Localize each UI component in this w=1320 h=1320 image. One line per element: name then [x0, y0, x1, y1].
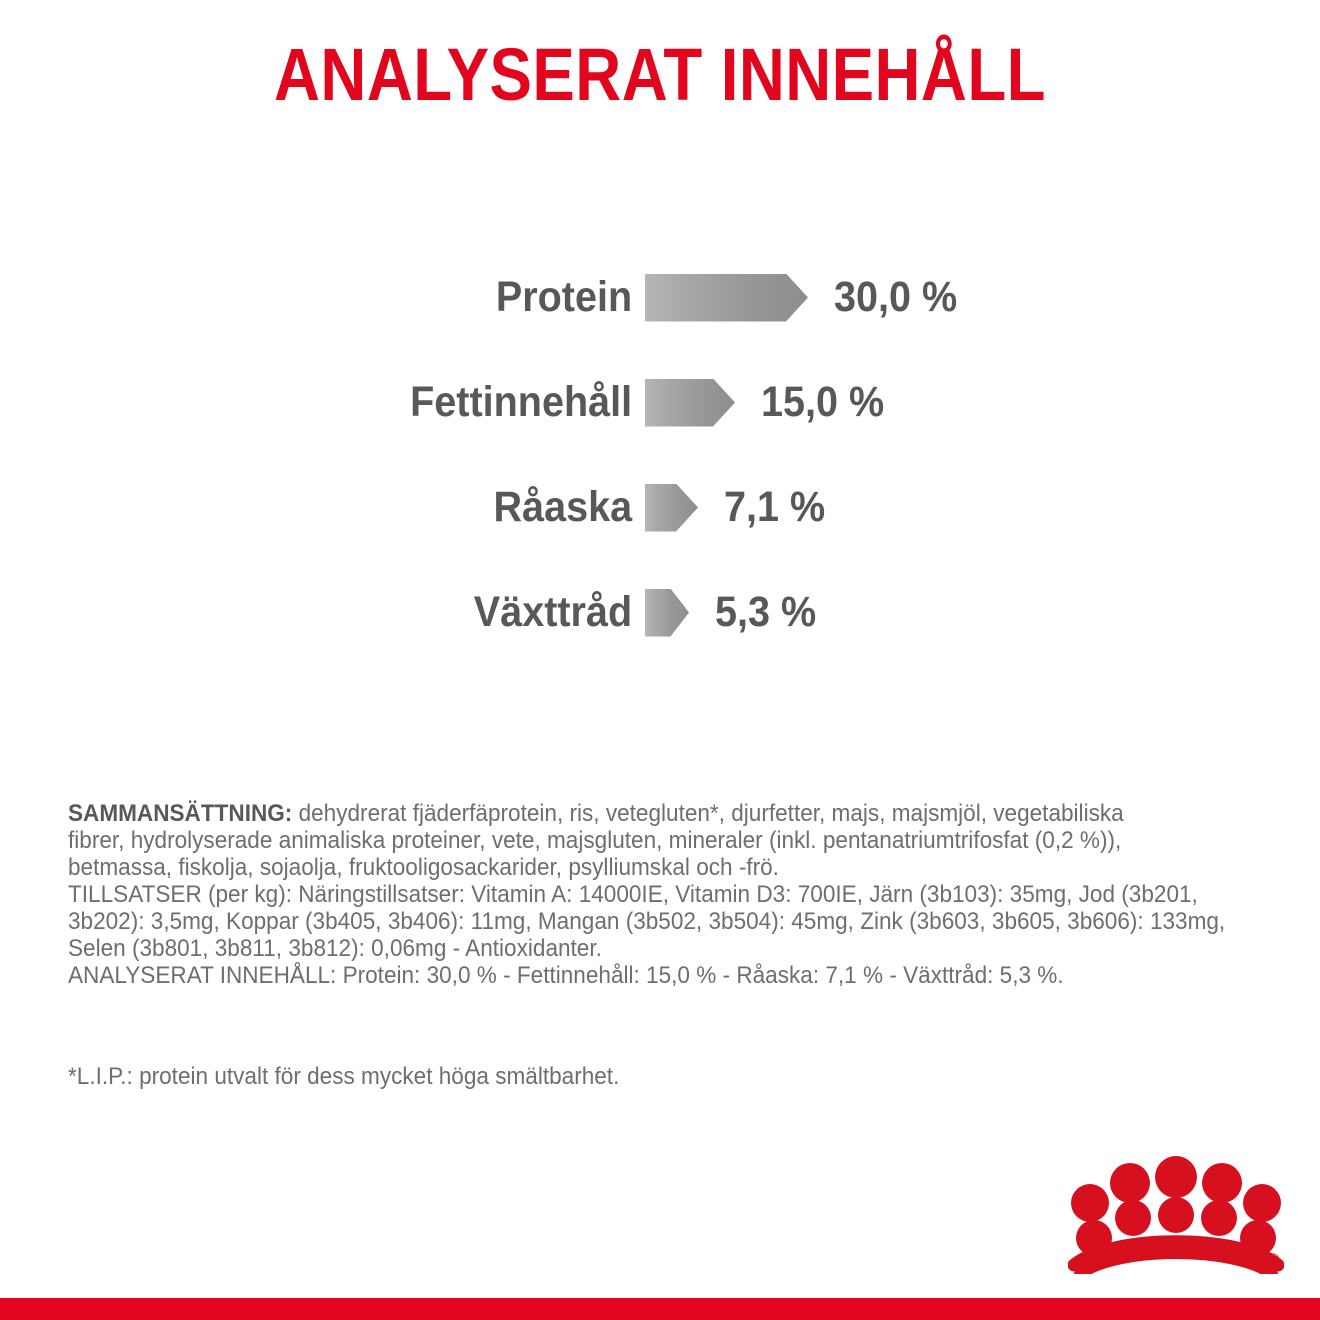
- nutrient-row: Råaska7,1 %: [0, 455, 1320, 560]
- nutrient-row: Fettinnehåll15,0 %: [0, 350, 1320, 455]
- analytical-constituents-chart: Protein30,0 %Fettinnehåll15,0 %Råaska7,1…: [0, 245, 1320, 665]
- royal-canin-crown-logo: ®: [1068, 1156, 1284, 1274]
- nutrient-label: Råaska: [52, 486, 645, 529]
- nutrient-value: 30,0 %: [834, 276, 957, 319]
- composition-line: ANALYSERAT INNEHÅLL: Protein: 30,0 % - F…: [68, 962, 1196, 989]
- nutrient-value: 7,1 %: [724, 486, 825, 529]
- composition-heading: SAMMANSÄTTNING:: [68, 800, 292, 827]
- composition-line: TILLSATSER (per kg): Näringstillsatser: …: [68, 881, 1196, 908]
- nutrient-bar-arrow: [645, 589, 689, 637]
- nutrient-row: Växttråd5,3 %: [0, 560, 1320, 665]
- composition-line: betmassa, fiskolja, sojaolja, fruktoolig…: [68, 854, 1196, 881]
- composition-text: SAMMANSÄTTNING: dehydrerat fjäderfäprote…: [68, 800, 1196, 989]
- composition-line-text: dehydrerat fjäderfäprotein, ris, veteglu…: [292, 800, 1123, 827]
- nutrient-label: Protein: [52, 276, 645, 319]
- composition-line: fibrer, hydrolyserade animaliska protein…: [68, 827, 1196, 854]
- composition-line: 3b202): 3,5mg, Koppar (3b405, 3b406): 11…: [68, 908, 1196, 935]
- composition-line: Selen (3b801, 3b811, 3b812): 0,06mg - An…: [68, 935, 1196, 962]
- nutrient-value: 5,3 %: [715, 591, 816, 634]
- page-title: ANALYSERAT INNEHÅLL: [92, 38, 1227, 112]
- nutrient-value: 15,0 %: [761, 381, 884, 424]
- nutrient-bar-arrow: [645, 379, 735, 427]
- nutrient-label: Växttråd: [52, 591, 645, 634]
- registered-mark: ®: [1268, 1251, 1279, 1268]
- lip-footnote: *L.I.P.: protein utvalt för dess mycket …: [68, 1063, 619, 1090]
- composition-line: SAMMANSÄTTNING: dehydrerat fjäderfäprote…: [68, 800, 1196, 827]
- crown-arcs: [1074, 1242, 1278, 1274]
- nutrient-bar-arrow: [645, 274, 808, 322]
- bottom-accent-bar: [0, 1298, 1320, 1320]
- nutrient-bar-arrow: [645, 484, 698, 532]
- nutrient-label: Fettinnehåll: [52, 381, 645, 424]
- nutrient-row: Protein30,0 %: [0, 245, 1320, 350]
